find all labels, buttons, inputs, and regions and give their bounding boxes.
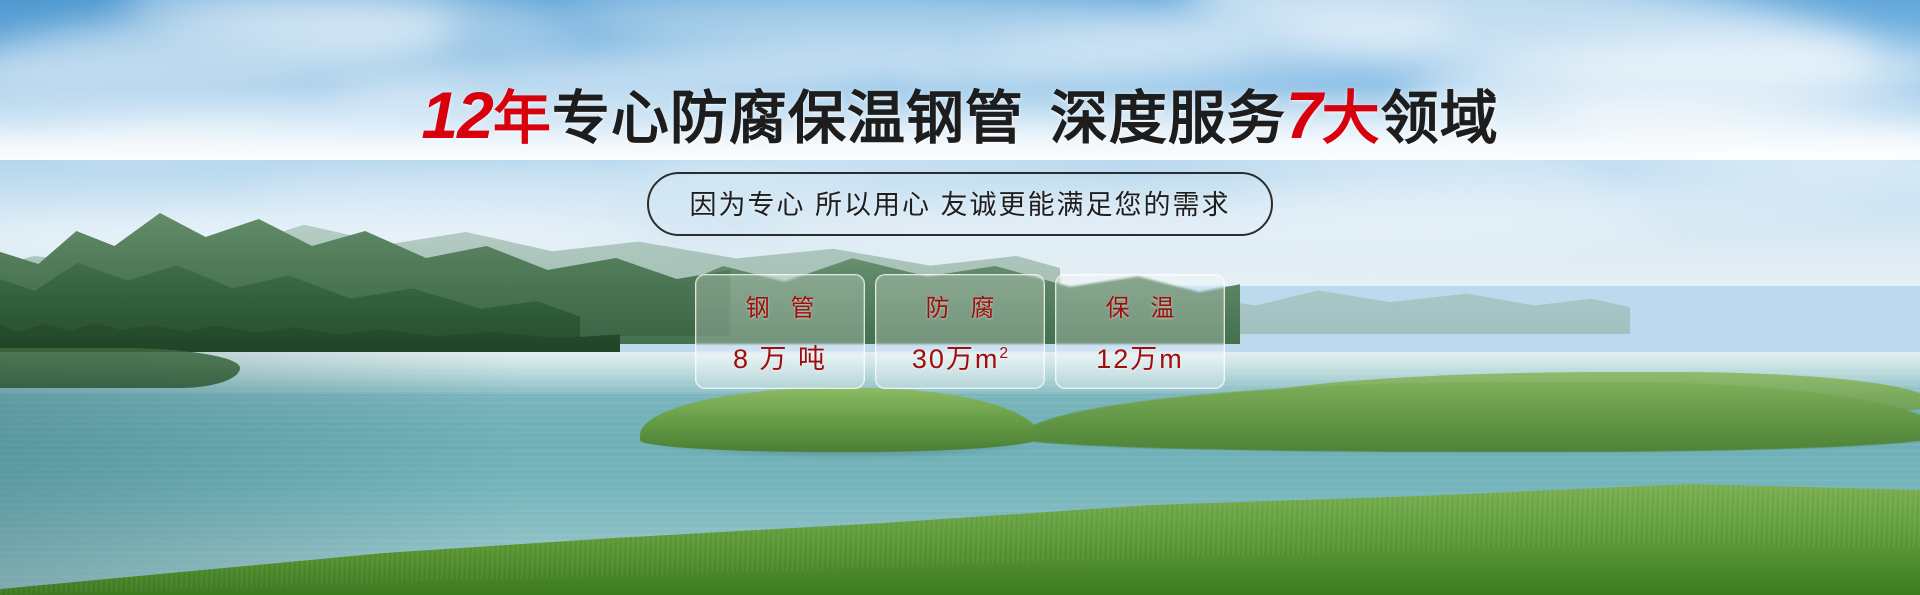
hero-banner: 12年专心防腐保温钢管深度服务7大领域 因为专心 所以用心 友诚更能满足您的需求…: [0, 0, 1920, 595]
stat-cards: 钢 管 8 万 吨 防 腐 30万m2 保 温 12万m: [695, 274, 1225, 389]
headline-highlight-number: 7: [1286, 78, 1322, 152]
stat-card-value-superscript: 2: [999, 345, 1008, 362]
stat-card-anticorrosion: 防 腐 30万m2: [875, 274, 1045, 389]
stat-card-value: 30万m2: [912, 337, 1008, 376]
headline-service-segment: 深度服务: [1050, 86, 1286, 151]
stat-card-title: 钢 管: [739, 288, 822, 323]
banner-subtitle-pill: 因为专心 所以用心 友诚更能满足您的需求: [647, 172, 1272, 236]
stat-card-value-text: 12万m: [1096, 344, 1184, 374]
banner-headline: 12年专心防腐保温钢管深度服务7大领域: [421, 82, 1498, 148]
stat-card-insulation: 保 温 12万m: [1055, 274, 1225, 389]
headline-main-segment: 专心防腐保温钢管: [552, 86, 1024, 151]
headline-years-unit: 年: [493, 86, 552, 151]
headline-tail-segment: 领域: [1381, 86, 1499, 151]
stat-card-value-text: 30万m: [912, 344, 1000, 374]
stat-card-title: 保 温: [1099, 288, 1182, 323]
stat-card-value: 8 万 吨: [733, 337, 827, 376]
headline-highlight-unit: 大: [1322, 86, 1381, 151]
stat-card-value: 12万m: [1096, 337, 1184, 376]
stat-card-value-text: 8 万 吨: [733, 344, 827, 374]
headline-years-number: 12: [421, 78, 492, 152]
stat-card-steel-pipe: 钢 管 8 万 吨: [695, 274, 865, 389]
stat-card-title: 防 腐: [919, 288, 1002, 323]
banner-content: 12年专心防腐保温钢管深度服务7大领域 因为专心 所以用心 友诚更能满足您的需求…: [0, 0, 1920, 595]
